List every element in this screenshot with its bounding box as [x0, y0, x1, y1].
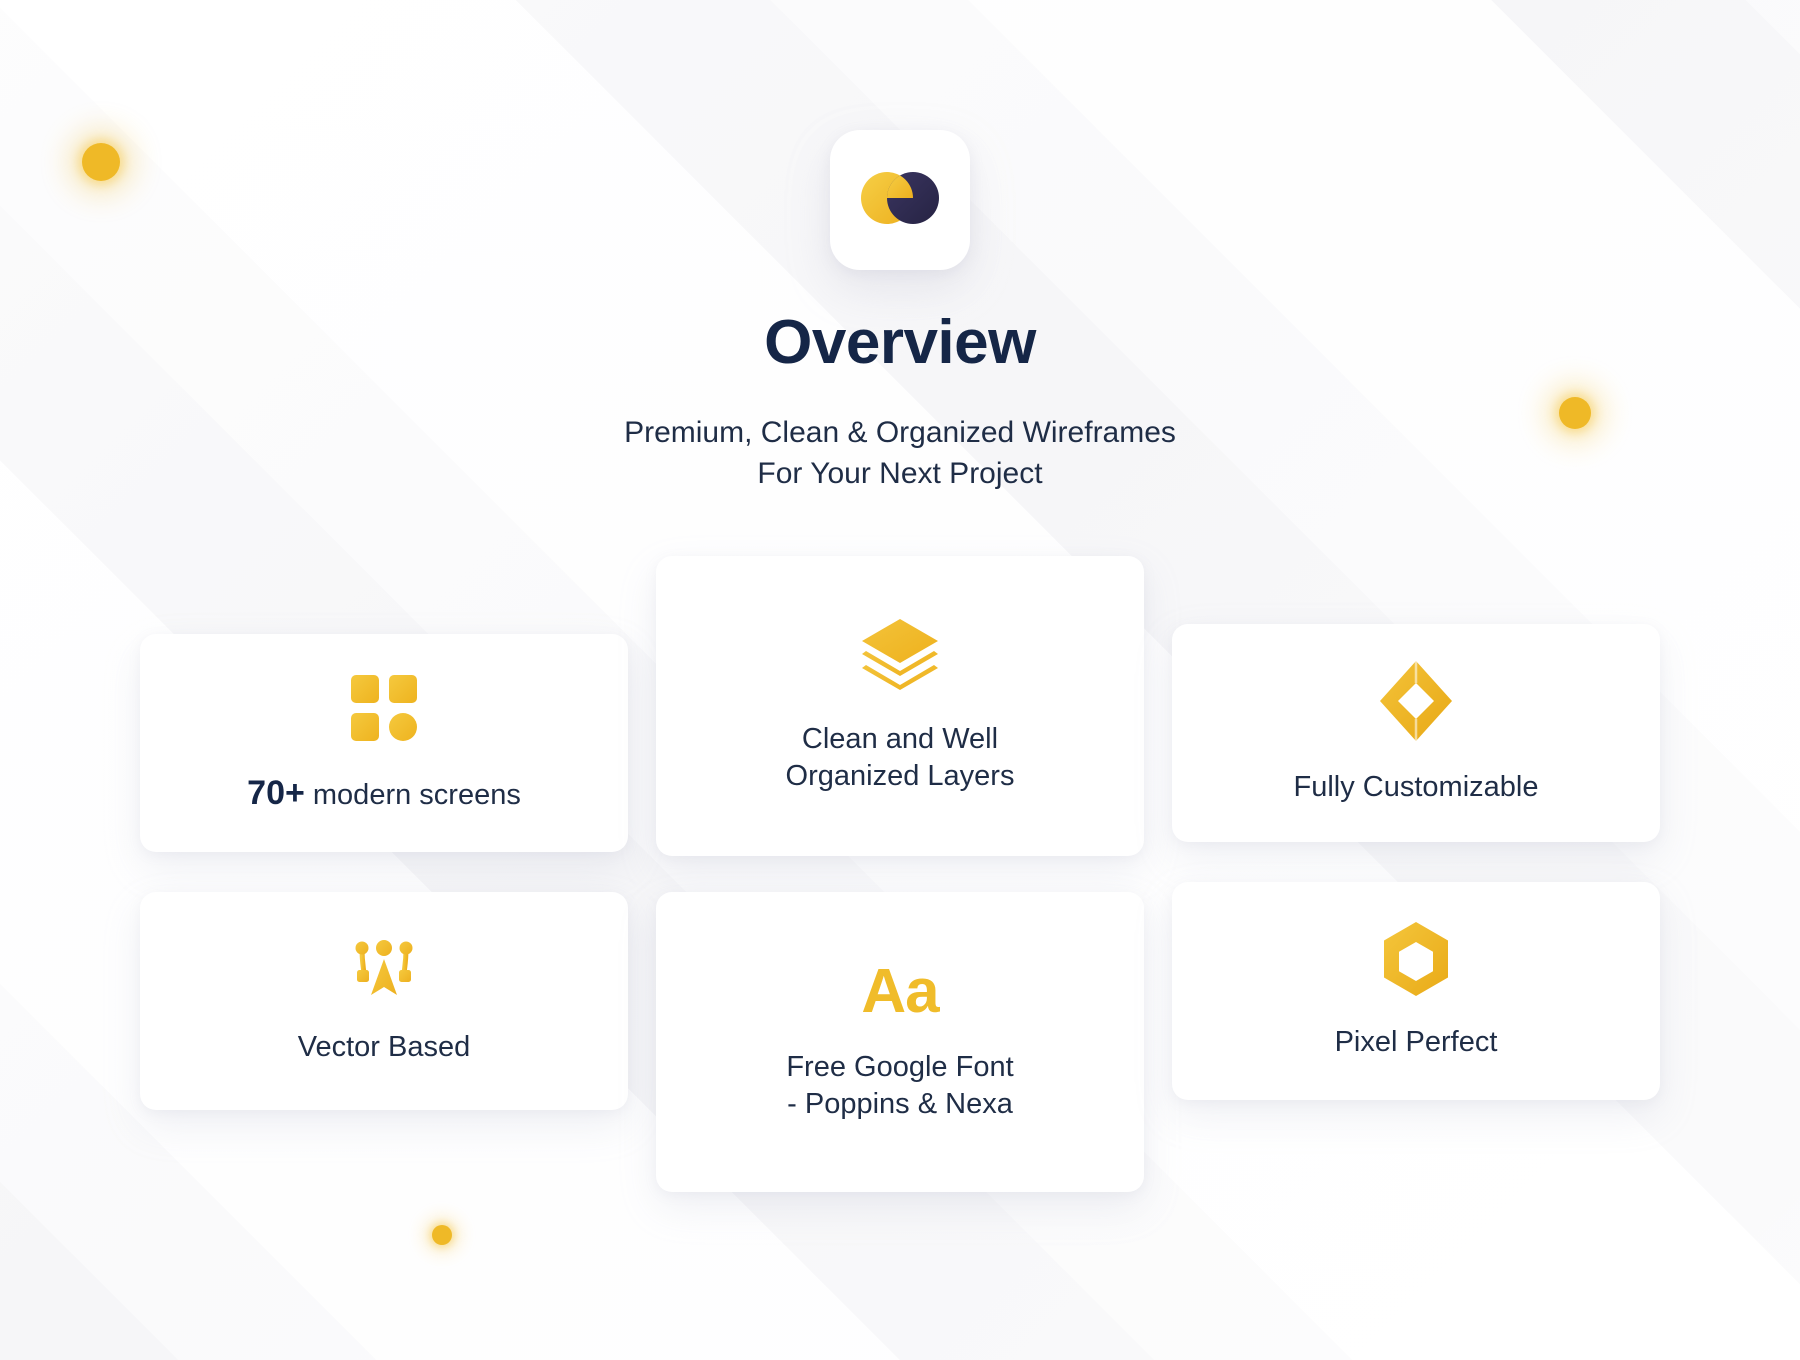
feature-card-vector-based[interactable]: Vector Based	[140, 892, 628, 1110]
feature-column-center: Clean and Well Organized Layers Aa Free …	[656, 556, 1144, 1192]
page-subtitle: Premium, Clean & Organized Wireframes Fo…	[624, 412, 1176, 494]
feature-label-modern-screens: 70+ modern screens	[247, 771, 521, 815]
font-label-line-2: - Poppins & Nexa	[786, 1086, 1013, 1124]
feature-card-organized-layers[interactable]: Clean and Well Organized Layers	[656, 556, 1144, 856]
feature-label-fully-customizable: Fully Customizable	[1294, 769, 1539, 807]
screens-count: 70+	[247, 774, 305, 812]
screens-label-text: modern screens	[305, 779, 521, 811]
feature-label-google-font: Free Google Font - Poppins & Nexa	[786, 1049, 1013, 1124]
feature-card-fully-customizable[interactable]: Fully Customizable	[1172, 624, 1660, 842]
hexagon-outline-icon	[1380, 920, 1452, 998]
feature-card-google-font[interactable]: Aa Free Google Font - Poppins & Nexa	[656, 892, 1144, 1192]
feature-card-pixel-perfect[interactable]: Pixel Perfect	[1172, 882, 1660, 1100]
feature-column-right: Fully Customizable Pixel Perfect	[1172, 556, 1660, 1100]
layers-label-line-1: Clean and Well	[786, 721, 1015, 759]
layers-stack-icon	[858, 617, 942, 695]
font-label-line-1: Free Google Font	[786, 1049, 1013, 1087]
feature-label-pixel-perfect: Pixel Perfect	[1335, 1024, 1498, 1062]
feature-label-organized-layers: Clean and Well Organized Layers	[786, 721, 1015, 796]
subtitle-line-2: For Your Next Project	[624, 453, 1176, 494]
subtitle-line-1: Premium, Clean & Organized Wireframes	[624, 412, 1176, 453]
feature-label-vector-based: Vector Based	[298, 1029, 471, 1067]
app-logo-tile	[830, 130, 970, 270]
typography-aa-icon: Aa	[861, 961, 938, 1023]
feature-card-grid: 70+ modern screens	[140, 556, 1660, 1192]
pen-tool-icon	[348, 935, 420, 1003]
feature-column-left: 70+ modern screens	[140, 556, 628, 1110]
overlapping-circles-logo-icon	[854, 165, 946, 236]
overview-page: Overview Premium, Clean & Organized Wire…	[0, 0, 1800, 1360]
page-title: Overview	[764, 312, 1036, 374]
layers-label-line-2: Organized Layers	[786, 758, 1015, 796]
diamond-outline-icon	[1378, 659, 1454, 743]
aa-glyph-text: Aa	[861, 961, 938, 1023]
grid-squares-icon	[347, 671, 421, 745]
feature-card-modern-screens[interactable]: 70+ modern screens	[140, 634, 628, 852]
